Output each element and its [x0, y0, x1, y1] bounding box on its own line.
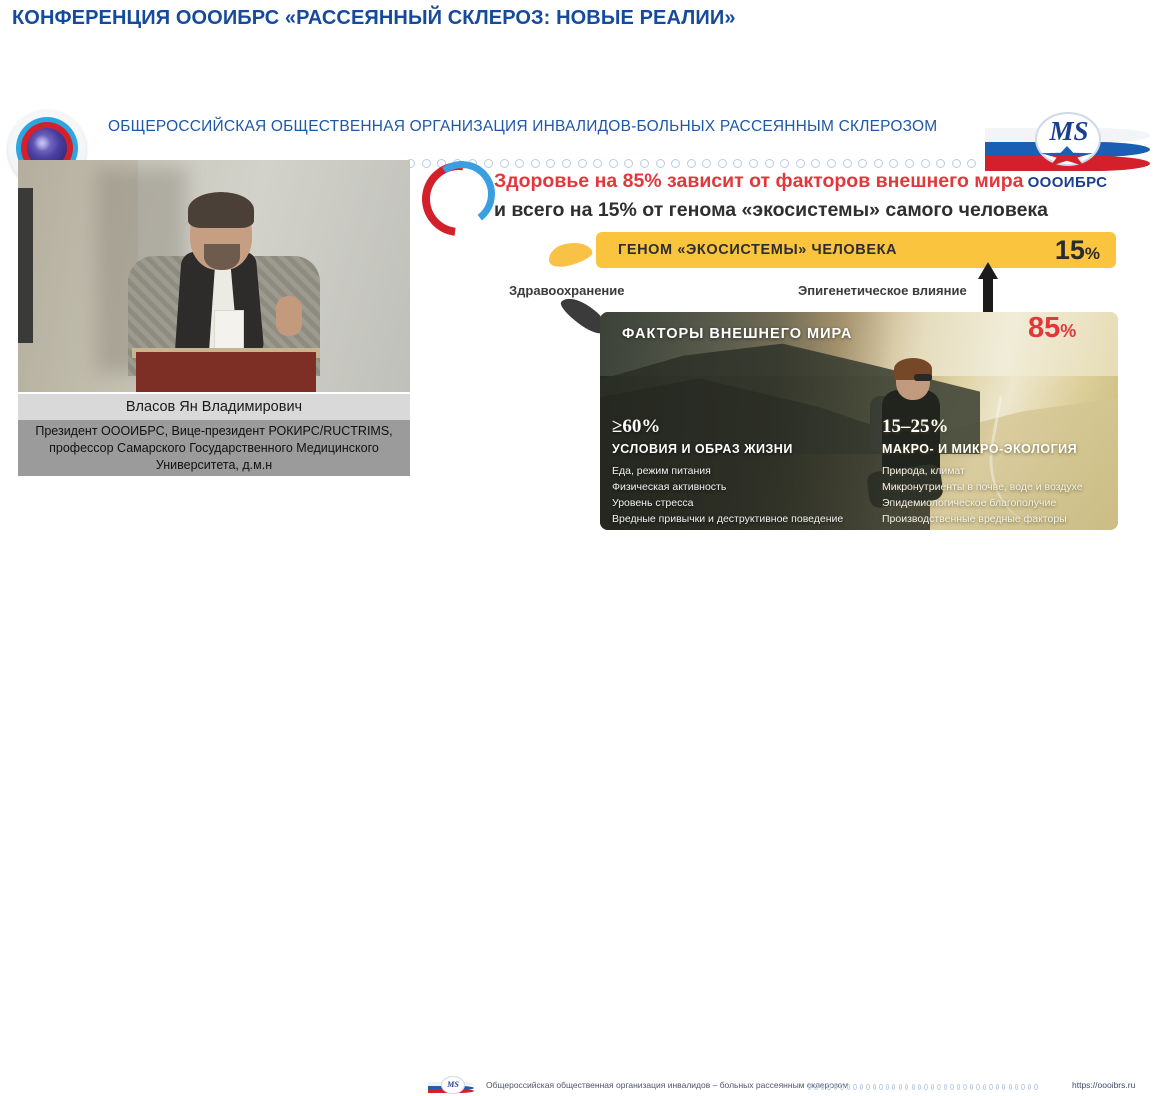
footer-ms-emblem: MS [441, 1076, 465, 1094]
dot [952, 159, 961, 168]
dot [1015, 1084, 1018, 1090]
list-item: Микронутриенты в почве, воде и воздухе [882, 479, 1132, 495]
lifestyle-heading: УСЛОВИЯ И ОБРАЗ ЖИЗНИ [612, 442, 862, 456]
dot [1002, 1084, 1005, 1090]
photo-speaker-beard [204, 244, 240, 270]
dot [1034, 1084, 1037, 1090]
dot [671, 159, 680, 168]
dot [593, 159, 602, 168]
dot [687, 159, 696, 168]
external-percent-value: 85 [1028, 312, 1060, 344]
speaker-role-line-3: Университета, д.м.н [156, 457, 272, 474]
external-percent-sign: % [1060, 321, 1076, 341]
speaker-role-line-1: Президент ОООИБРС, Вице-президент РОКИРС… [35, 423, 392, 440]
speaker-role-line-2: профессор Самарского Государственного Ме… [49, 440, 379, 457]
dot [976, 1084, 979, 1090]
dot [918, 1084, 921, 1090]
header-dot-divider [406, 156, 986, 170]
page-title: КОНФЕРЕНЦИЯ ОООИБРС «РАССЕЯННЫЙ СКЛЕРОЗ:… [12, 7, 1112, 30]
photo-podium [136, 352, 316, 392]
dot [624, 159, 633, 168]
dot [879, 1084, 882, 1090]
dot [749, 159, 758, 168]
dot [578, 159, 587, 168]
dot [892, 1084, 895, 1090]
dot [970, 1084, 973, 1090]
list-item: Физическая активность [612, 479, 862, 495]
dot [996, 1084, 999, 1090]
dot [858, 159, 867, 168]
dot [936, 159, 945, 168]
dot [860, 1084, 863, 1090]
footer-organization-text: Общероссийская общественная организация … [486, 1080, 848, 1090]
dot [847, 1084, 850, 1090]
dot [931, 1084, 934, 1090]
speaker-role-bar: Президент ОООИБРС, Вице-президент РОКИРС… [18, 420, 410, 476]
dot [834, 1084, 837, 1090]
footer-logo-icon: MS [428, 1076, 474, 1096]
dot [515, 159, 524, 168]
lifestyle-list: Еда, режим питания Физическая активность… [612, 463, 862, 527]
dot [950, 1084, 953, 1090]
dot [702, 159, 711, 168]
dot [562, 159, 571, 168]
lifestyle-value: ≥60% [612, 416, 862, 438]
lead-line-1: Здоровье на 85% зависит от факторов внеш… [494, 170, 1023, 193]
external-percent: 85% [1028, 312, 1076, 345]
photo-dark-edge [18, 188, 33, 343]
list-item: Природа, климат [882, 463, 1132, 479]
logo-glow [34, 135, 50, 151]
dot [912, 1084, 915, 1090]
dot [944, 1084, 947, 1090]
dot [866, 1084, 869, 1090]
dot [1021, 1084, 1024, 1090]
dot [905, 159, 914, 168]
speaker-name: Власов Ян Владимирович [126, 399, 302, 415]
ecology-value: 15–25% [882, 416, 1132, 438]
genome-percent-sign: % [1085, 244, 1100, 263]
dot [827, 159, 836, 168]
speaker-name-bar: Власов Ян Владимирович [18, 394, 410, 420]
speaker-photo [18, 160, 410, 392]
dot [967, 159, 976, 168]
dot [989, 1084, 992, 1090]
dot [500, 159, 509, 168]
dot [1028, 1084, 1031, 1090]
dot [853, 1084, 856, 1090]
photo-speaker-hand [276, 296, 302, 336]
yellow-curved-arrow-icon [548, 243, 592, 269]
dot [886, 1084, 889, 1090]
dot [733, 159, 742, 168]
dot [873, 1084, 876, 1090]
dot [808, 1084, 811, 1090]
dot [546, 159, 555, 168]
dot [827, 1084, 830, 1090]
factor-column-ecology: 15–25% МАКРО- И МИКРО-ЭКОЛОГИЯ Природа, … [882, 416, 1132, 527]
dot [899, 1084, 902, 1090]
dot [484, 159, 493, 168]
list-item: Эпидемиологическое благополучие [882, 495, 1132, 511]
ecology-heading: МАКРО- И МИКРО-ЭКОЛОГИЯ [882, 442, 1132, 456]
footer-bar: MS Общероссийская общественная организац… [0, 536, 1158, 566]
dot [874, 159, 883, 168]
dot [889, 159, 898, 168]
dot [811, 159, 820, 168]
dot [1009, 1084, 1012, 1090]
dot [609, 159, 618, 168]
ecology-list: Природа, климат Микронутриенты в почве, … [882, 463, 1132, 527]
dot [656, 159, 665, 168]
footer-dot-divider [808, 1082, 1038, 1092]
factor-column-lifestyle: ≥60% УСЛОВИЯ И ОБРАЗ ЖИЗНИ Еда, режим пи… [612, 416, 862, 527]
dot [924, 1084, 927, 1090]
genome-bar: ГЕНОМ «ЭКОСИСТЕМЫ» ЧЕЛОВЕКА 15% [596, 232, 1116, 268]
dot [963, 1084, 966, 1090]
lead-line-2: и всего на 15% от генома «экосистемы» са… [494, 199, 1048, 222]
dot [921, 159, 930, 168]
dot [780, 159, 789, 168]
genome-bar-label: ГЕНОМ «ЭКОСИСТЕМЫ» ЧЕЛОВЕКА [618, 242, 897, 258]
dot [905, 1084, 908, 1090]
list-item: Вредные привычки и деструктивное поведен… [612, 511, 862, 527]
ms-emblem-text: MS [1039, 116, 1099, 147]
swoosh-icon [422, 162, 484, 220]
caption-healthcare: Здравоохранение [509, 283, 625, 298]
dot [814, 1084, 817, 1090]
dot [640, 159, 649, 168]
dot [957, 1084, 960, 1090]
dot [796, 159, 805, 168]
dot [983, 1084, 986, 1090]
list-item: Еда, режим питания [612, 463, 862, 479]
external-factors-title: ФАКТОРЫ ВНЕШНЕГО МИРА [622, 326, 852, 342]
list-item: Производственные вредные факторы [882, 511, 1132, 527]
dot [843, 159, 852, 168]
ms-emblem: MS [1027, 110, 1111, 170]
dot [937, 1084, 940, 1090]
photo-speaker-hair [188, 192, 254, 228]
dot [531, 159, 540, 168]
org-header-band: ОБЩЕРОССИЙСКАЯ ОБЩЕСТВЕННАЯ ОРГАНИЗАЦИЯ … [0, 52, 1158, 144]
dot [765, 159, 774, 168]
footer-url[interactable]: https://oooibrs.ru [1072, 1080, 1135, 1090]
dot [821, 1084, 824, 1090]
organization-name: ОБЩЕРОССИЙСКАЯ ОБЩЕСТВЕННАЯ ОРГАНИЗАЦИЯ … [108, 118, 968, 136]
caption-epigenetic: Эпигенетическое влияние [798, 283, 967, 298]
genome-percent-value: 15 [1055, 235, 1085, 265]
list-item: Уровень стресса [612, 495, 862, 511]
dot [840, 1084, 843, 1090]
dot [718, 159, 727, 168]
genome-percent: 15% [1055, 235, 1100, 266]
